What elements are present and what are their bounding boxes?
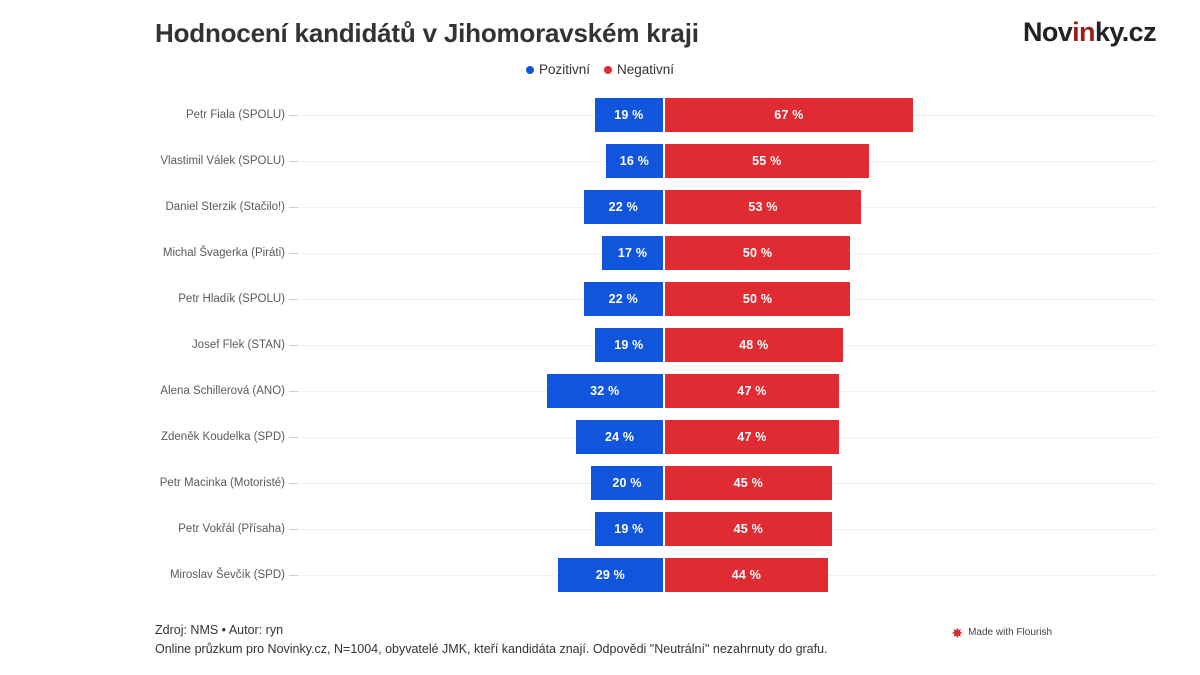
chart-row: Josef Flek (STAN)19 %48 %	[0, 322, 1200, 368]
legend-swatch-icon	[604, 66, 612, 74]
legend-label: Negativní	[617, 62, 674, 77]
bar-group: 24 %47 %	[0, 414, 1200, 460]
brand-suffix: ky.cz	[1095, 17, 1156, 47]
chart-plot-area: Petr Fiala (SPOLU)19 %67 %Vlastimil Vále…	[0, 92, 1200, 610]
legend-item-negative[interactable]: Negativní	[604, 62, 674, 77]
bar-negative[interactable]: 47 %	[665, 374, 839, 408]
bar-group: 17 %50 %	[0, 230, 1200, 276]
bar-negative[interactable]: 44 %	[665, 558, 828, 592]
bar-group: 22 %53 %	[0, 184, 1200, 230]
source-line-2: Online průzkum pro Novinky.cz, N=1004, o…	[155, 640, 828, 659]
chart-row: Vlastimil Válek (SPOLU)16 %55 %	[0, 138, 1200, 184]
bar-positive[interactable]: 19 %	[595, 98, 665, 132]
bar-group: 16 %55 %	[0, 138, 1200, 184]
bar-positive[interactable]: 20 %	[591, 466, 665, 500]
chart-row: Zdeněk Koudelka (SPD)24 %47 %	[0, 414, 1200, 460]
bar-group: 29 %44 %	[0, 552, 1200, 598]
bar-positive[interactable]: 22 %	[584, 282, 665, 316]
brand-prefix: Nov	[1023, 17, 1072, 47]
bar-group: 20 %45 %	[0, 460, 1200, 506]
bar-positive[interactable]: 29 %	[558, 558, 665, 592]
chart-row: Alena Schillerová (ANO)32 %47 %	[0, 368, 1200, 414]
chart-footer: Zdroj: NMS • Autor: ryn Online průzkum p…	[0, 615, 1200, 675]
bar-positive[interactable]: 19 %	[595, 512, 665, 546]
bar-negative[interactable]: 53 %	[665, 190, 861, 224]
bar-positive[interactable]: 24 %	[576, 420, 665, 454]
bar-positive[interactable]: 22 %	[584, 190, 665, 224]
chart-row: Miroslav Ševčík (SPD)29 %44 %	[0, 552, 1200, 598]
bar-positive[interactable]: 32 %	[547, 374, 665, 408]
bar-positive[interactable]: 17 %	[602, 236, 665, 270]
chart-header: Hodnocení kandidátů v Jihomoravském kraj…	[0, 0, 1200, 58]
chart-row: Petr Hladík (SPOLU)22 %50 %	[0, 276, 1200, 322]
novinky-logo: Novinky.cz	[1023, 17, 1156, 48]
flourish-badge-label: Made with Flourish	[968, 627, 1052, 638]
bar-negative[interactable]: 48 %	[665, 328, 843, 362]
bar-positive[interactable]: 16 %	[606, 144, 665, 178]
source-line-1: Zdroj: NMS • Autor: ryn	[155, 621, 828, 640]
bar-negative[interactable]: 45 %	[665, 512, 832, 546]
made-with-flourish-badge[interactable]: ✸ Made with Flourish	[951, 627, 1052, 638]
chart-row: Petr Vokřál (Přísaha)19 %45 %	[0, 506, 1200, 552]
bar-group: 22 %50 %	[0, 276, 1200, 322]
legend-item-positive[interactable]: Pozitivní	[526, 62, 590, 77]
bar-negative[interactable]: 55 %	[665, 144, 869, 178]
bar-group: 32 %47 %	[0, 368, 1200, 414]
chart-row: Petr Macinka (Motoristé)20 %45 %	[0, 460, 1200, 506]
bar-negative[interactable]: 50 %	[665, 236, 850, 270]
chart-row: Michal Švagerka (Piráti)17 %50 %	[0, 230, 1200, 276]
bar-group: 19 %45 %	[0, 506, 1200, 552]
source-note: Zdroj: NMS • Autor: ryn Online průzkum p…	[155, 621, 828, 659]
bar-negative[interactable]: 50 %	[665, 282, 850, 316]
chart-legend: PozitivníNegativní	[0, 62, 1200, 77]
chart-row: Daniel Sterzik (Stačilo!)22 %53 %	[0, 184, 1200, 230]
brand-accent: in	[1072, 17, 1095, 47]
bar-group: 19 %67 %	[0, 92, 1200, 138]
chart-row: Petr Fiala (SPOLU)19 %67 %	[0, 92, 1200, 138]
chart-page: Hodnocení kandidátů v Jihomoravském kraj…	[0, 0, 1200, 675]
legend-swatch-icon	[526, 66, 534, 74]
bar-positive[interactable]: 19 %	[595, 328, 665, 362]
bar-group: 19 %48 %	[0, 322, 1200, 368]
bar-negative[interactable]: 45 %	[665, 466, 832, 500]
bar-negative[interactable]: 47 %	[665, 420, 839, 454]
legend-label: Pozitivní	[539, 62, 590, 77]
flourish-star-icon: ✸	[951, 628, 963, 638]
page-title: Hodnocení kandidátů v Jihomoravském kraj…	[155, 18, 699, 49]
bar-negative[interactable]: 67 %	[665, 98, 913, 132]
